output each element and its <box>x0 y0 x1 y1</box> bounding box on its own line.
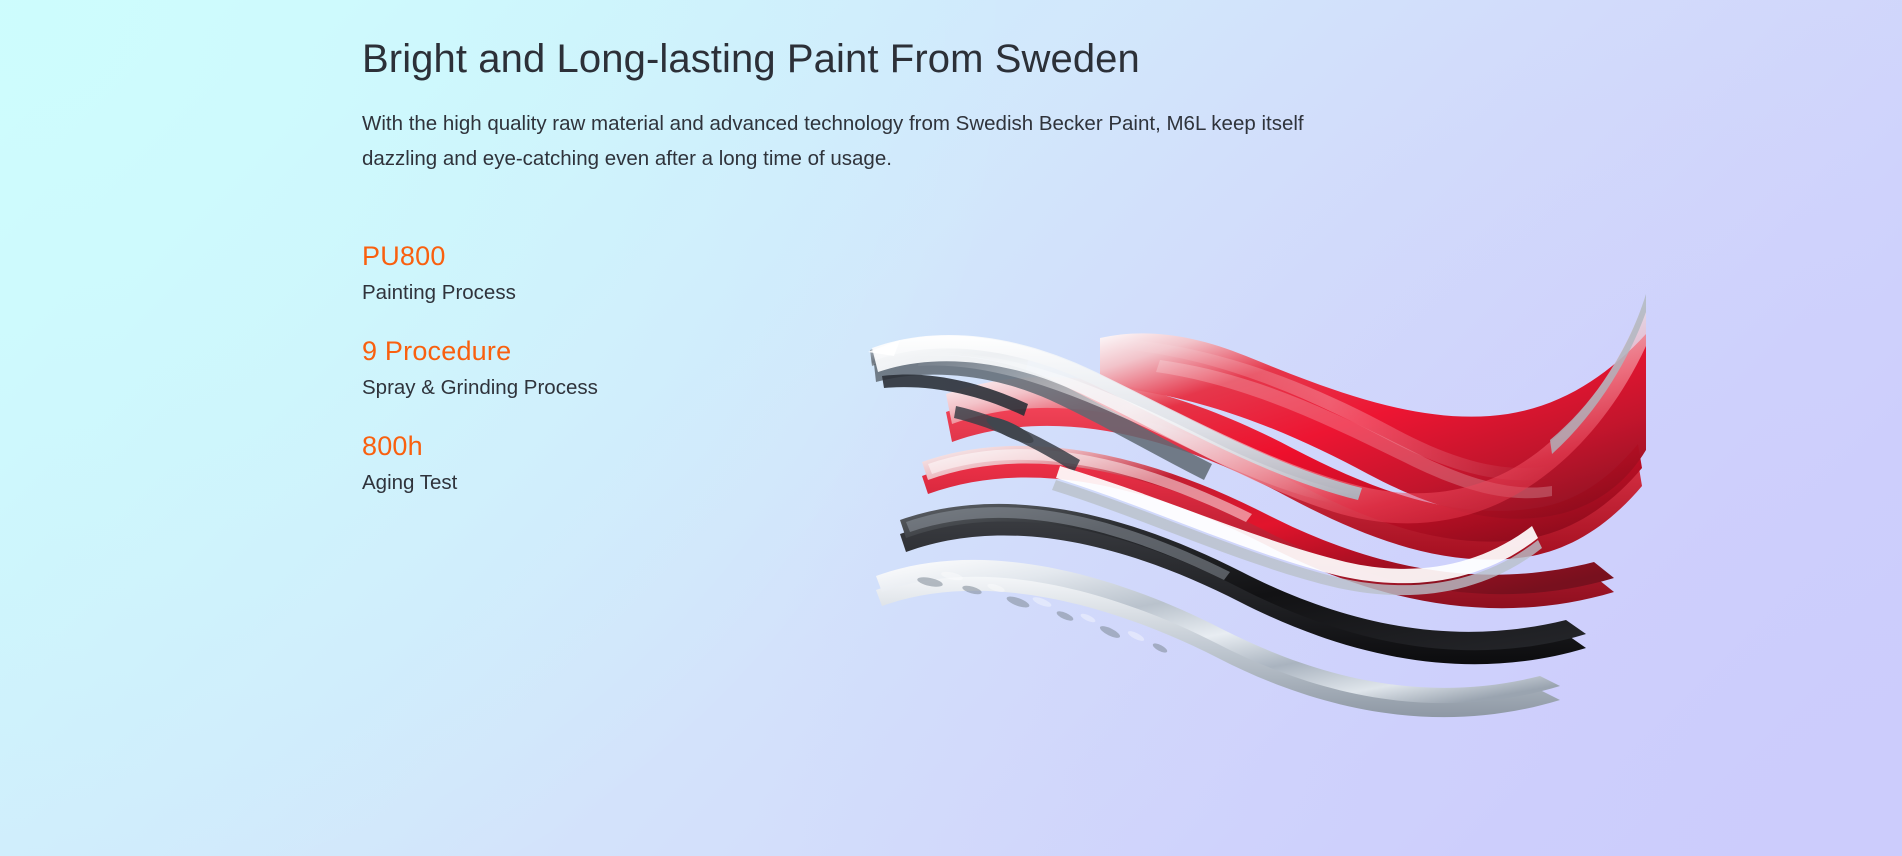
feature-value: PU800 <box>362 239 1322 274</box>
paint-layers-illustration <box>860 290 1650 790</box>
section-subhead: With the high quality raw material and a… <box>362 106 1317 177</box>
section-headline: Bright and Long-lasting Paint From Swede… <box>362 34 1322 84</box>
feature-section: Bright and Long-lasting Paint From Swede… <box>0 0 1902 856</box>
